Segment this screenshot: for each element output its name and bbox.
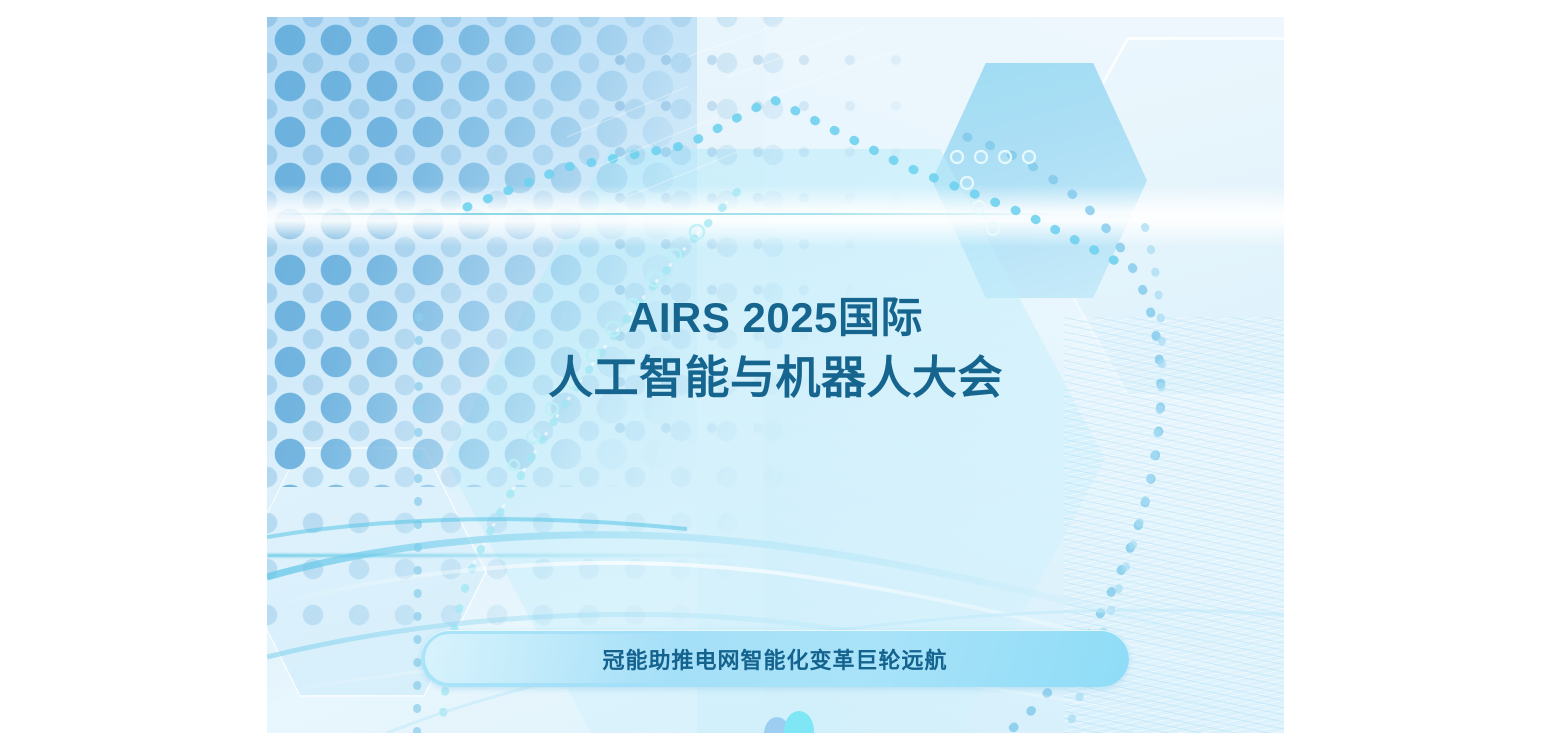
slide-title-block: AIRS 2025国际 人工智能与机器人大会 [267, 289, 1284, 409]
slide-title-line-2: 人工智能与机器人大会 [267, 347, 1284, 409]
dotted-circle-hex-trail [951, 151, 1035, 235]
presentation-slide: AIRS 2025国际 人工智能与机器人大会 冠能助推电网智能化变革巨轮远航 [267, 17, 1284, 733]
dotted-peak-line [467, 99, 1127, 267]
slide-subtitle-text: 冠能助推电网智能化变革巨轮远航 [421, 630, 1129, 687]
diagonal-hatch [567, 17, 907, 197]
slide-subtitle-banner: 冠能助推电网智能化变革巨轮远航 [421, 630, 1129, 687]
slide-title-line-1: AIRS 2025国际 [267, 289, 1284, 347]
